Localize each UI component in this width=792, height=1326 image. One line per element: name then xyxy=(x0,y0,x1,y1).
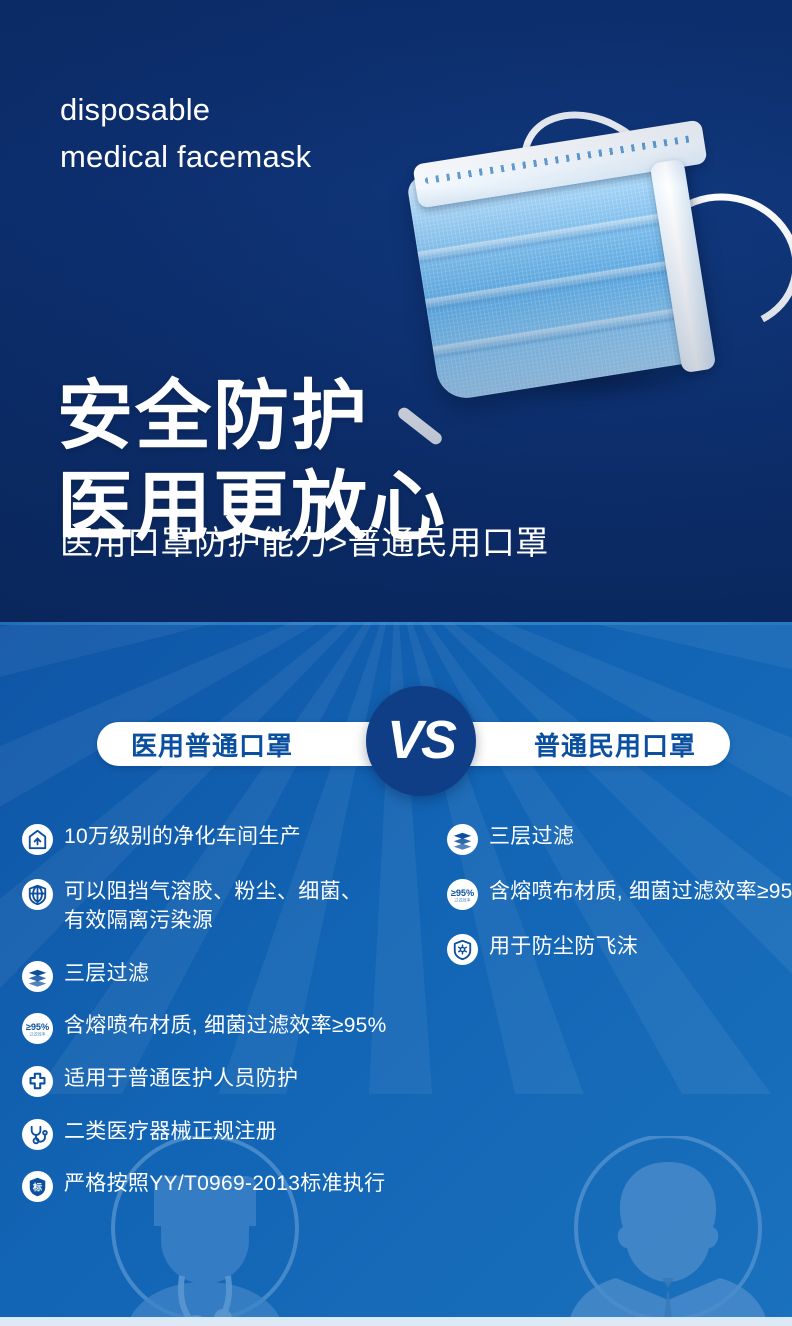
standard-shield-icon: 标 xyxy=(22,1171,53,1202)
surgical-mask-image xyxy=(398,120,792,450)
section-divider xyxy=(0,622,792,625)
feature-row: 三层过滤 xyxy=(22,959,422,992)
product-detail-page: disposable medical facemask 安全防护 医用更放心 医… xyxy=(0,0,792,1326)
feature-text: 适用于普通医护人员防护 xyxy=(64,1064,298,1093)
feature-row: 三层过滤 xyxy=(447,822,792,855)
svg-text:≥95%: ≥95% xyxy=(26,1022,49,1032)
vs-label: VS xyxy=(387,713,455,767)
three-layers-icon xyxy=(447,824,478,855)
feature-text: 含熔喷布材质, 细菌过滤效率≥95% xyxy=(489,877,792,906)
feature-text: 严格按照YY/T0969-2013标准执行 xyxy=(64,1169,385,1198)
mask-pleat xyxy=(429,302,714,359)
shield-globe-icon xyxy=(22,879,53,910)
svg-text:过滤效率: 过滤效率 xyxy=(454,897,470,903)
hero-subtitle: 医用口罩防护能力>普通民用口罩 xyxy=(60,521,549,565)
feature-row: ≥95% 过滤效率 含熔喷布材质, 细菌过滤效率≥95% xyxy=(22,1011,422,1044)
feature-row: ≥95% 过滤效率 含熔喷布材质, 细菌过滤效率≥95% xyxy=(447,877,792,910)
medical-cross-icon xyxy=(22,1066,53,1097)
feature-row: 用于防尘防飞沫 xyxy=(447,932,792,965)
compare-left-title-bar: 医用普通口罩 xyxy=(97,722,397,766)
three-layers-icon xyxy=(22,961,53,992)
feature-text: 二类医疗器械正规注册 xyxy=(64,1117,277,1146)
vs-badge: VS xyxy=(366,686,476,796)
compare-left-title: 医用普通口罩 xyxy=(131,726,293,763)
hero-eyebrow: disposable medical facemask xyxy=(60,86,311,180)
feature-text: 可以阻挡气溶胶、粉尘、细菌、 有效隔离污染源 xyxy=(64,877,362,935)
feature-row: 二类医疗器械正规注册 xyxy=(22,1117,422,1150)
svg-text:过滤效率: 过滤效率 xyxy=(29,1031,45,1037)
filter-95-badge-icon: ≥95% 过滤效率 xyxy=(447,879,478,910)
feature-row: 10万级别的净化车间生产 xyxy=(22,822,422,855)
standard-shield-glyph: 标 xyxy=(32,1181,43,1192)
feature-row: 适用于普通医护人员防护 xyxy=(22,1064,422,1097)
feature-row: 标 严格按照YY/T0969-2013标准执行 xyxy=(22,1169,422,1202)
feature-row: 可以阻挡气溶胶、粉尘、细菌、 有效隔离污染源 xyxy=(22,877,422,935)
feature-text: 含熔喷布材质, 细菌过滤效率≥95% xyxy=(64,1011,387,1040)
civilian-silhouette xyxy=(570,1136,792,1326)
filter-95-badge-icon: ≥95% 过滤效率 xyxy=(22,1013,53,1044)
compare-right-title-bar: 普通民用口罩 xyxy=(445,722,730,766)
comparison-section: 医用普通口罩 普通民用口罩 VS 10万级别的净化车间生产 xyxy=(0,622,792,1326)
feature-text: 三层过滤 xyxy=(489,822,574,851)
vs-header: 医用普通口罩 普通民用口罩 VS xyxy=(0,688,792,800)
svg-text:≥95%: ≥95% xyxy=(451,888,474,898)
left-feature-column: 10万级别的净化车间生产 可以阻挡气溶胶、粉尘、细菌、 有效隔离污染源 xyxy=(22,822,422,1219)
dust-shield-icon xyxy=(447,934,478,965)
feature-text: 10万级别的净化车间生产 xyxy=(64,822,301,851)
stethoscope-icon xyxy=(22,1119,53,1150)
bottom-strip xyxy=(0,1317,792,1326)
compare-right-title: 普通民用口罩 xyxy=(534,726,696,763)
feature-text: 用于防尘防飞沫 xyxy=(489,932,638,961)
right-feature-column: 三层过滤 ≥95% 过滤效率 含熔喷布材质, 细菌过滤效率≥95% xyxy=(447,822,792,982)
feature-text: 三层过滤 xyxy=(64,959,149,988)
hero-section: disposable medical facemask 安全防护 医用更放心 医… xyxy=(0,0,792,622)
factory-house-icon xyxy=(22,824,53,855)
